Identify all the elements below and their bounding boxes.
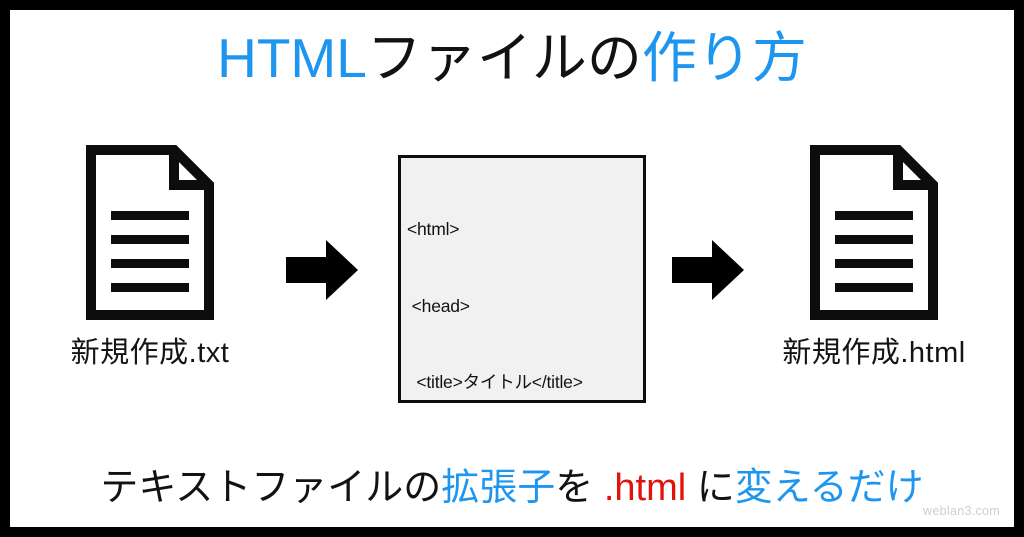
document-lines-icon — [810, 145, 938, 320]
footer-segment-change: 変えるだけ — [735, 467, 924, 509]
right-document-label: 新規作成.html — [744, 334, 1004, 372]
title-segment-file: ファイルの — [367, 27, 642, 89]
document-lines-icon — [86, 145, 214, 320]
footer-segment-ni: に — [686, 467, 735, 509]
footer-segment-wo: を — [555, 467, 604, 509]
footer-segment-extension: 拡張子 — [441, 467, 555, 509]
html-code-block: <html> <head> <title>タイトル</title> </head… — [398, 155, 646, 403]
code-line: <title>タイトル</title> — [407, 370, 643, 396]
footer-caption: テキストファイルの拡張子を .html に変えるだけ — [10, 462, 1014, 514]
code-lines: <html> <head> <title>タイトル</title> </head… — [407, 166, 643, 403]
left-document-group: 新規作成.txt — [20, 145, 280, 372]
page-title: HTMLファイルの作り方 — [10, 26, 1014, 90]
watermark: weblan3.com — [923, 503, 1000, 519]
title-segment-howto: 作り方 — [642, 27, 807, 89]
arrow-right-icon — [672, 240, 744, 300]
footer-segment-html-ext: .html — [604, 467, 686, 509]
left-document-label: 新規作成.txt — [20, 334, 280, 372]
footer-segment-textfile: テキストファイルの — [100, 467, 441, 509]
flow-diagram: 新規作成.txt <html> <head> <title>タイトル</titl… — [20, 145, 1004, 425]
arrow-right-icon — [286, 240, 358, 300]
code-line: <head> — [407, 294, 643, 320]
right-document-group: 新規作成.html — [744, 145, 1004, 372]
code-line: <html> — [407, 217, 643, 243]
title-segment-html: HTML — [217, 27, 367, 89]
slide-canvas: HTMLファイルの作り方 新規作成.txt <html> <head> — [0, 0, 1024, 537]
